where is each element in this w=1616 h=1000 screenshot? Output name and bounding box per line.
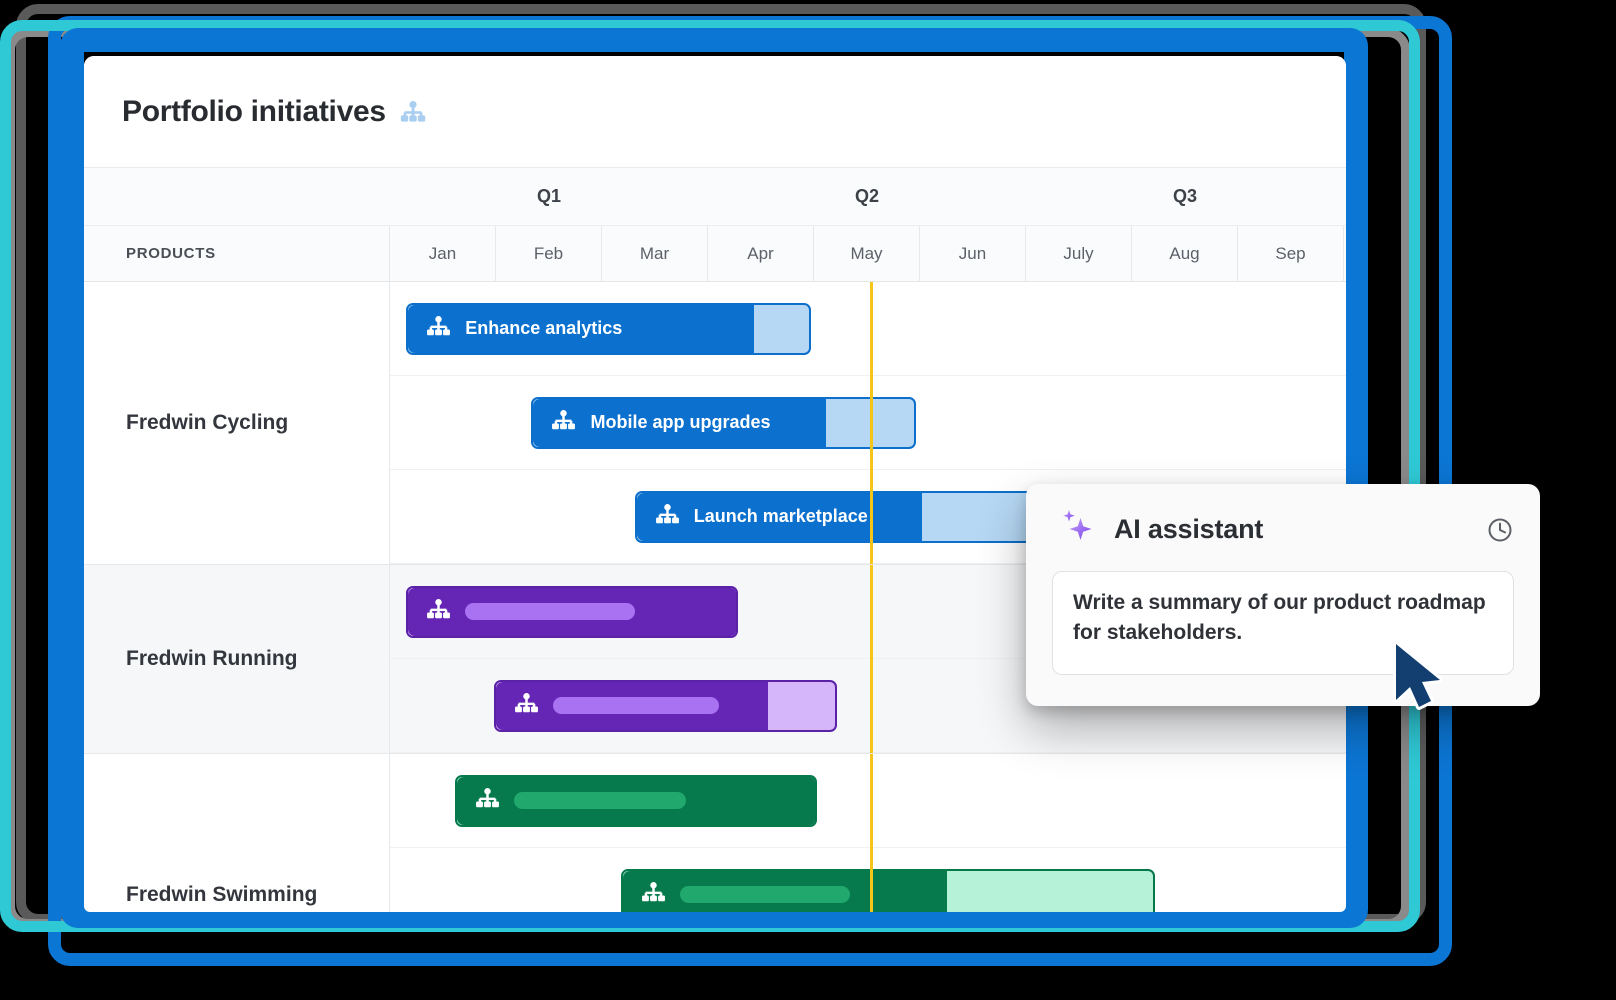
gantt-bar-content: [623, 882, 850, 908]
gantt-bar-label-placeholder: [514, 792, 686, 809]
quarter-cell-q2: Q2: [708, 168, 1026, 225]
month-cell-apr[interactable]: Apr: [708, 226, 814, 281]
gantt-row: Mobile app upgrades: [390, 376, 1346, 470]
group-rows: [390, 754, 1346, 912]
month-cell-sep[interactable]: Sep: [1238, 226, 1344, 281]
today-marker-line: [870, 754, 873, 912]
gantt-bar-content: Enhance analytics: [408, 316, 622, 342]
quarter-cell-q1: Q1: [390, 168, 708, 225]
hierarchy-icon: [514, 693, 539, 719]
card-header: Portfolio initiatives: [84, 56, 1346, 168]
month-cell-july[interactable]: July: [1026, 226, 1132, 281]
quarter-spacer: [84, 168, 390, 225]
gantt-bar-content: [408, 599, 635, 625]
gantt-bar-label-placeholder: [465, 603, 635, 620]
quarter-cell-q3: Q3: [1026, 168, 1344, 225]
group-label-fredwin-swimming[interactable]: Fredwin Swimming: [84, 754, 390, 912]
gantt-bar-label-placeholder: [680, 886, 850, 903]
product-group: Fredwin Swimming: [84, 754, 1346, 912]
gantt-row: [390, 754, 1346, 848]
ai-assistant-header: AI assistant: [1026, 484, 1540, 553]
group-label-fredwin-running[interactable]: Fredwin Running: [84, 565, 390, 753]
gantt-bar[interactable]: Enhance analytics: [406, 303, 810, 355]
month-cell-jun[interactable]: Jun: [920, 226, 1026, 281]
group-label-fredwin-cycling[interactable]: Fredwin Cycling: [84, 282, 390, 564]
month-cell-mar[interactable]: Mar: [602, 226, 708, 281]
gantt-bar[interactable]: [455, 775, 817, 827]
month-cell-aug[interactable]: Aug: [1132, 226, 1238, 281]
quarter-header-row: Q1 Q2 Q3: [84, 168, 1346, 226]
today-marker-line: [870, 282, 873, 564]
gantt-row: [390, 848, 1346, 912]
page-title: Portfolio initiatives: [122, 95, 386, 129]
gantt-bar-label-placeholder: [553, 697, 719, 714]
gantt-bar-label: Mobile app upgrades: [590, 412, 770, 433]
gantt-bar-label: Launch marketplace: [694, 506, 868, 527]
clock-icon[interactable]: [1486, 516, 1514, 544]
mouse-pointer-icon: [1390, 640, 1452, 719]
gantt-bar-content: [496, 693, 719, 719]
hierarchy-icon: [655, 504, 680, 530]
hierarchy-icon: [551, 410, 576, 436]
hierarchy-icon: [475, 788, 500, 814]
gantt-bar-content: Mobile app upgrades: [533, 410, 770, 436]
hierarchy-icon: [426, 316, 451, 342]
gantt-bar[interactable]: [494, 680, 837, 732]
gantt-bar-label: Enhance analytics: [465, 318, 622, 339]
month-cell-jan[interactable]: Jan: [390, 226, 496, 281]
gantt-bar-content: Launch marketplace: [637, 504, 868, 530]
month-header-row: PRODUCTS Jan Feb Mar Apr May Jun July Au…: [84, 226, 1346, 282]
hierarchy-icon: [400, 101, 426, 123]
screenshot-stage: Portfolio initiatives Q1 Q2: [0, 0, 1616, 1000]
gantt-bar[interactable]: Mobile app upgrades: [531, 397, 915, 449]
gantt-bar[interactable]: [406, 586, 738, 638]
hierarchy-icon: [641, 882, 666, 908]
month-cell-feb[interactable]: Feb: [496, 226, 602, 281]
today-marker-line: [870, 565, 873, 753]
ai-assistant-panel[interactable]: AI assistant Write a summary of our prod…: [1026, 484, 1540, 706]
products-column-header: PRODUCTS: [84, 226, 390, 281]
sparkle-icon: [1056, 506, 1098, 553]
ai-assistant-title: AI assistant: [1114, 514, 1263, 545]
hierarchy-icon: [426, 599, 451, 625]
gantt-bar-content: [457, 788, 686, 814]
gantt-row: Enhance analytics: [390, 282, 1346, 376]
gantt-bar[interactable]: [621, 869, 1154, 913]
month-cell-may[interactable]: May: [814, 226, 920, 281]
